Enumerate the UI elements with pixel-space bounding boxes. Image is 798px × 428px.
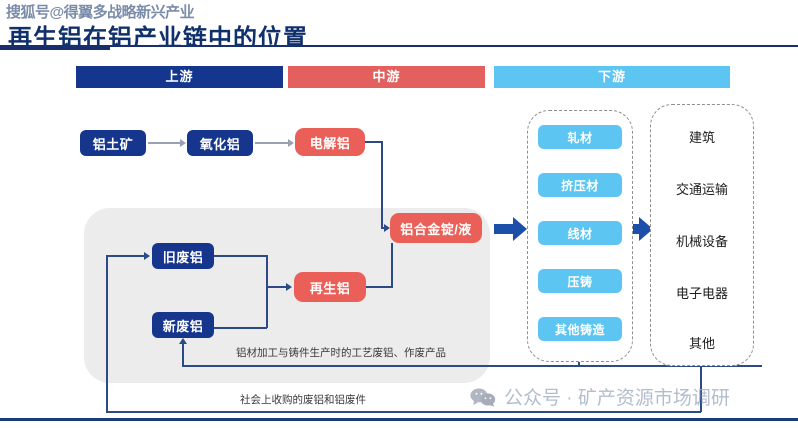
arrowhead-alumina-electrolytic	[288, 139, 294, 147]
connector-bauxite-alumina	[148, 142, 180, 144]
arrowhead-to-recycled	[286, 283, 292, 291]
banner-midstream: 中游	[288, 66, 485, 88]
connector-social-scrap-up	[106, 255, 108, 412]
connector-electrolytic-down	[381, 141, 383, 228]
product-forms-group: 轧材 挤压材 线材 压铸 其他铸造	[527, 110, 633, 362]
node-new-scrap[interactable]: 新废铝	[152, 312, 214, 338]
connector-recycled-right	[366, 286, 393, 288]
connector-newscrap-right	[214, 327, 267, 329]
node-bauxite[interactable]: 铝土矿	[80, 130, 146, 156]
chip-rolled[interactable]: 轧材	[538, 125, 622, 149]
arrowhead-to-old-scrap	[144, 252, 150, 260]
chip-extruded[interactable]: 挤压材	[538, 173, 622, 197]
enduse-electronics[interactable]: 电子电器	[651, 281, 753, 303]
arrowhead-bauxite-alumina	[180, 139, 186, 147]
banner-upstream: 上游	[76, 66, 283, 88]
bottom-rule	[0, 418, 798, 421]
bottom-watermark: 公众号 · 矿产资源市场调研	[470, 383, 730, 410]
connector-junction-recycled	[266, 286, 288, 288]
connector-scrap-junction-vertical	[266, 255, 268, 328]
banner-downstream: 下游	[494, 66, 730, 88]
node-old-scrap[interactable]: 旧废铝	[152, 243, 214, 269]
caption-process-scrap: 铝材加工与铸件生产时的工艺废铝、作废产品	[236, 345, 446, 360]
block-arrow-to-products	[494, 216, 528, 242]
enduse-construction[interactable]: 建筑	[651, 125, 753, 147]
node-alumina[interactable]: 氧化铝	[187, 130, 253, 156]
chip-diecast[interactable]: 压铸	[538, 269, 622, 293]
node-recycled-aluminum[interactable]: 再生铝	[294, 272, 366, 302]
enduse-transport[interactable]: 交通运输	[651, 177, 753, 199]
chip-other-cast[interactable]: 其他铸造	[538, 317, 622, 341]
end-uses-group: 建筑 交通运输 机械设备 电子电器 其他	[650, 104, 754, 366]
connector-oldscrap-right	[214, 255, 267, 257]
enduse-machinery[interactable]: 机械设备	[651, 229, 753, 251]
node-electrolytic-aluminum[interactable]: 电解铝	[295, 128, 365, 156]
connector-recycled-up	[391, 243, 393, 288]
wechat-icon	[470, 387, 496, 407]
connector-social-to-oldscrap	[106, 255, 146, 257]
arrowhead-to-new-scrap	[179, 338, 187, 344]
chip-wire[interactable]: 线材	[538, 221, 622, 245]
node-alloy-ingot[interactable]: 铝合金锭/液	[390, 213, 482, 243]
connector-electrolytic-right	[365, 141, 382, 143]
title-underline-gap	[110, 47, 798, 50]
connector-social-scrap-return	[106, 411, 701, 413]
connector-process-scrap-up	[182, 344, 184, 366]
slide-canvas: 搜狐号@得翼多战略新兴产业 再生铝在铝产业链中的位置 上游 中游 下游 铝土矿 …	[0, 0, 798, 428]
caption-social-scrap: 社会上收购的废铝和铝废件	[240, 392, 366, 407]
connector-alumina-electrolytic	[255, 142, 288, 144]
bottom-watermark-text: 公众号 · 矿产资源市场调研	[504, 383, 730, 410]
enduse-other[interactable]: 其他	[651, 331, 753, 353]
